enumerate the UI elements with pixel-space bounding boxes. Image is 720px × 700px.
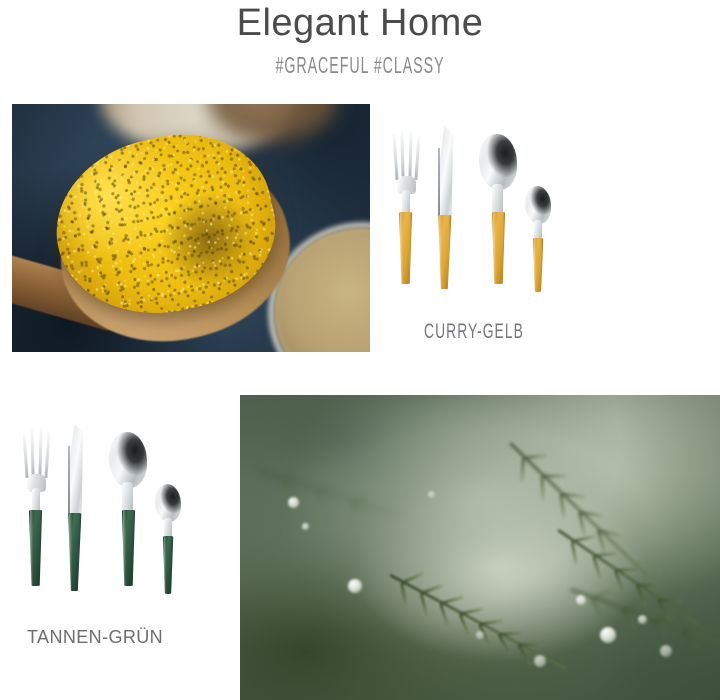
label-tannen-gruen: TANNEN-GRÜN bbox=[27, 627, 163, 648]
product-listing-image: Elegant Home #GRACEFUL #CLASSY bbox=[0, 0, 720, 700]
page-subtitle: #GRACEFUL #CLASSY bbox=[137, 52, 583, 78]
spoon-bowl bbox=[477, 133, 519, 192]
curry-gelb-cutlery-set bbox=[385, 126, 555, 296]
fork-handle bbox=[398, 212, 413, 284]
spoon-handle bbox=[121, 510, 136, 586]
teaspoon-handle bbox=[162, 536, 174, 594]
knife-edge bbox=[68, 446, 70, 514]
fir-branch-photo bbox=[240, 395, 720, 700]
label-curry-gelb: CURRY-GELB bbox=[424, 320, 524, 344]
knife-edge bbox=[438, 148, 440, 216]
curry-powder-photo bbox=[12, 104, 370, 352]
spoon-handle bbox=[491, 212, 506, 284]
spoon-bowl bbox=[107, 431, 149, 490]
fork-tines bbox=[23, 428, 51, 480]
photo-vignette bbox=[240, 395, 720, 700]
knife-handle bbox=[437, 215, 452, 289]
knife-handle bbox=[67, 513, 82, 591]
fork-handle bbox=[28, 510, 43, 586]
page-title: Elegant Home bbox=[0, 1, 720, 45]
fork-tines bbox=[393, 130, 421, 182]
tannen-gruen-cutlery-set bbox=[15, 424, 185, 599]
teaspoon-handle bbox=[532, 238, 544, 292]
